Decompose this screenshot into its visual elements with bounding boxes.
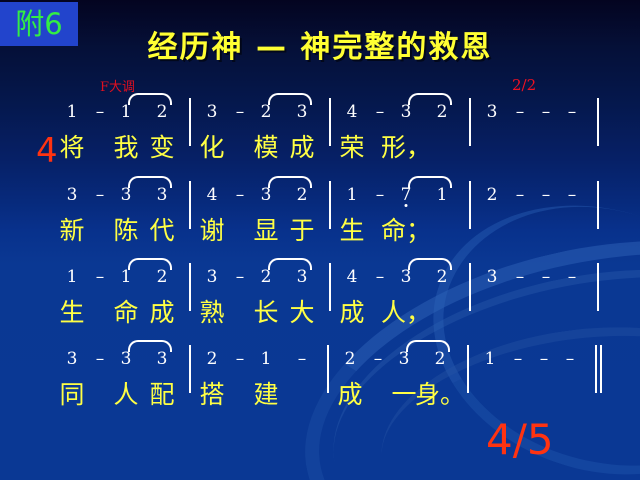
barline xyxy=(597,181,599,229)
slur-mark xyxy=(268,258,312,270)
note-number: 3 xyxy=(297,267,308,287)
slur-mark xyxy=(268,176,312,188)
note-number: 1 xyxy=(121,267,132,287)
note-dash: – xyxy=(568,185,577,205)
lyric-character: 陈 xyxy=(113,211,138,247)
note-number: 1 xyxy=(67,267,78,287)
note-dash: – xyxy=(96,349,105,369)
lyric-character: 谢 xyxy=(199,211,224,247)
note-dash: – xyxy=(298,349,307,369)
lyric-character: 成 xyxy=(339,293,364,329)
lyric-row: 将我变化模成荣形， xyxy=(58,128,578,162)
note-dash: – xyxy=(516,185,525,205)
verse-number: 4 xyxy=(36,131,58,171)
note-number: 3 xyxy=(67,349,78,369)
note-number: 2 xyxy=(345,349,356,369)
note-number: 2 xyxy=(435,349,446,369)
note-number: 2 xyxy=(261,102,272,122)
note-number: 2 xyxy=(437,267,448,287)
note-dash: – xyxy=(542,267,551,287)
lyric-character: 我 xyxy=(113,128,138,164)
note-number: 1 xyxy=(437,185,448,205)
note-dash: – xyxy=(542,102,551,122)
page-title: 经历神 — 神完整的救恩 xyxy=(0,22,640,66)
note-number: 4 xyxy=(207,185,218,205)
slur-mark xyxy=(128,258,172,270)
notation-row: 1–123–234–323––– xyxy=(58,102,578,128)
lyric-character: 将 xyxy=(59,128,84,164)
slur-mark xyxy=(128,176,172,188)
notation-row: 1–123–234–323––– xyxy=(58,267,578,293)
lyric-character: 长 xyxy=(253,293,278,329)
note-number: 2 xyxy=(437,102,448,122)
note-dash: – xyxy=(514,349,523,369)
lyric-character: 生 xyxy=(339,211,364,247)
score-line-3: 1–123–234–323––– 生命成熟长大成人， xyxy=(58,267,578,327)
lyric-character: 生 xyxy=(59,293,84,329)
note-dash: – xyxy=(374,349,383,369)
lyric-character: 新 xyxy=(59,211,84,247)
score-line-4: 3–332–1–2–321––– 同人配搭建成一身。 xyxy=(58,349,578,409)
note-number: 3 xyxy=(121,349,132,369)
score-line-2: 3–334–321–712––– 新陈代谢显于生命； xyxy=(58,185,578,245)
note-dash: – xyxy=(542,185,551,205)
lyric-row: 新陈代谢显于生命； xyxy=(58,211,578,245)
lyric-character: 化 xyxy=(199,128,224,164)
note-dash: – xyxy=(516,267,525,287)
lyric-character: 搭 xyxy=(199,375,224,411)
lyric-character: 同 xyxy=(59,375,84,411)
note-number: 3 xyxy=(157,349,168,369)
note-number: 3 xyxy=(207,267,218,287)
note-number: 2 xyxy=(297,185,308,205)
note-number: 2 xyxy=(157,267,168,287)
barline xyxy=(597,98,599,146)
key-signature-label: F大调 xyxy=(100,76,135,95)
note-number: 3 xyxy=(121,185,132,205)
slur-mark xyxy=(408,176,452,188)
lyric-row: 生命成熟长大成人， xyxy=(58,293,578,327)
lyric-character: 成 xyxy=(149,293,174,329)
note-number: 3 xyxy=(399,349,410,369)
lyric-character: 代 xyxy=(149,211,174,247)
note-dash: – xyxy=(236,102,245,122)
note-dash: – xyxy=(236,185,245,205)
note-number: 2 xyxy=(207,349,218,369)
note-dash: – xyxy=(568,267,577,287)
lyric-character: 荣 xyxy=(339,128,364,164)
lyric-character: 建 xyxy=(253,375,278,411)
note-dash: – xyxy=(236,349,245,369)
lyric-character: 于 xyxy=(289,211,314,247)
slur-mark xyxy=(408,93,452,105)
note-dash: – xyxy=(376,102,385,122)
note-number: 1 xyxy=(67,102,78,122)
note-number: 4 xyxy=(347,267,358,287)
lyric-character: 配 xyxy=(149,375,174,411)
lyric-row: 同人配搭建成一身。 xyxy=(58,375,578,409)
lyric-character: 形， xyxy=(381,128,431,164)
lyric-character: 身。 xyxy=(415,375,465,411)
lyric-character: 大 xyxy=(289,293,314,329)
lyric-character: 人 xyxy=(113,375,138,411)
score-line-1: 1–123–234–323––– 将我变化模成荣形， xyxy=(58,102,578,162)
lyric-character: 一 xyxy=(391,375,416,411)
note-number: 2 xyxy=(487,185,498,205)
barline xyxy=(597,263,599,311)
lyric-character: 命； xyxy=(381,211,431,247)
final-barline xyxy=(595,345,597,393)
note-dash: – xyxy=(516,102,525,122)
note-number: 1 xyxy=(261,349,272,369)
note-number: 3 xyxy=(401,267,412,287)
lyric-character: 命 xyxy=(113,293,138,329)
note-dash: – xyxy=(376,185,385,205)
notation-row: 3–334–321–712––– xyxy=(58,185,578,211)
lyric-character: 变 xyxy=(149,128,174,164)
note-number: 1 xyxy=(485,349,496,369)
note-number: 2 xyxy=(157,102,168,122)
note-number: 1 xyxy=(121,102,132,122)
time-signature-label: 2/2 xyxy=(512,76,536,94)
note-dash: – xyxy=(96,185,105,205)
lyric-character: 模 xyxy=(253,128,278,164)
note-number: 3 xyxy=(207,102,218,122)
slur-mark xyxy=(128,340,172,352)
note-number: 3 xyxy=(261,185,272,205)
note-number: 3 xyxy=(67,185,78,205)
slur-mark xyxy=(408,258,452,270)
lyric-character: 熟 xyxy=(199,293,224,329)
slur-mark xyxy=(406,340,450,352)
note-dash: – xyxy=(96,102,105,122)
note-number: 3 xyxy=(487,267,498,287)
note-dash: – xyxy=(96,267,105,287)
note-dash: – xyxy=(566,349,575,369)
note-number: 2 xyxy=(261,267,272,287)
note-number: 3 xyxy=(401,102,412,122)
slur-mark xyxy=(268,93,312,105)
lyric-character: 成 xyxy=(289,128,314,164)
slide-root: 附6 经历神 — 神完整的救恩 F大调 2/2 4 4/5 1–123–234–… xyxy=(0,0,640,480)
note-number: 3 xyxy=(157,185,168,205)
note-number: 7 xyxy=(401,185,412,205)
note-dash: – xyxy=(236,267,245,287)
slur-mark xyxy=(128,93,172,105)
notation-row: 3–332–1–2–321––– xyxy=(58,349,578,375)
lyric-character: 显 xyxy=(253,211,278,247)
page-number: 4/5 xyxy=(486,415,554,464)
note-number: 3 xyxy=(297,102,308,122)
note-dash: – xyxy=(568,102,577,122)
low-octave-dot xyxy=(405,204,408,207)
lyric-character: 人， xyxy=(381,293,431,329)
note-dash: – xyxy=(376,267,385,287)
lyric-character: 成 xyxy=(337,375,362,411)
note-number: 4 xyxy=(347,102,358,122)
note-number: 1 xyxy=(347,185,358,205)
note-dash: – xyxy=(540,349,549,369)
note-number: 3 xyxy=(487,102,498,122)
